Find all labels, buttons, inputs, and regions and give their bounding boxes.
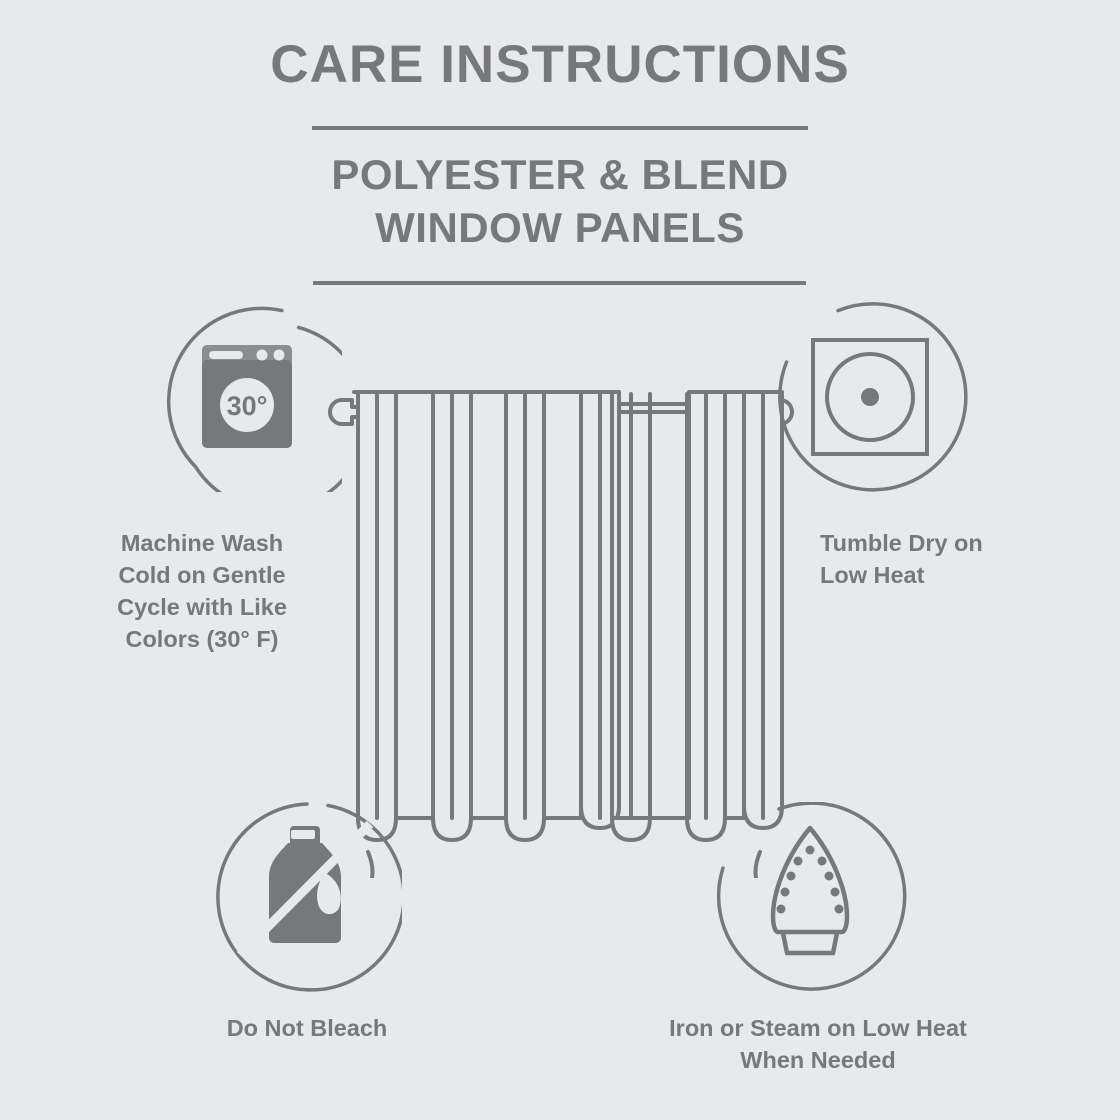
steam-holes [777,846,844,914]
detergent-slot [209,351,243,359]
low-heat-dot [861,388,879,406]
page-subtitle: POLYESTER & BLEND WINDOW PANELS [0,148,1120,255]
care-instructions-infographic: CARE INSTRUCTIONS POLYESTER & BLEND WIND… [0,0,1120,1120]
curtain-panel-right [612,392,782,840]
caption-line: Colors (30° F) [77,624,327,656]
iron-icon [717,802,907,992]
title-divider [312,126,808,130]
subtitle-divider [313,281,806,285]
care-symbol-machine-wash: 30° [152,302,342,492]
knob-1 [257,350,268,361]
bottle-cap-hole [291,830,315,839]
iron-base [783,933,837,953]
caption-line: Machine Wash [77,528,327,560]
caption-iron: Iron or Steam on Low Heat When Needed [608,1013,1028,1077]
washing-machine-icon: 30° [152,302,342,492]
caption-machine-wash: Machine Wash Cold on Gentle Cycle with L… [77,528,327,656]
no-bleach-icon [212,802,402,992]
caption-line: Iron or Steam on Low Heat [608,1013,1028,1045]
knob-2 [274,350,285,361]
iron-soleplate [773,828,847,932]
caption-line: Low Heat [820,560,1100,592]
caption-line: When Needed [608,1045,1028,1077]
caption-tumble-dry: Tumble Dry on Low Heat [820,528,1100,592]
care-symbol-do-not-bleach [212,802,402,992]
tumble-dry-icon [778,302,968,492]
caption-do-not-bleach: Do Not Bleach [157,1013,457,1045]
subtitle-line-1: POLYESTER & BLEND [0,148,1120,201]
wash-temperature-label: 30° [227,391,268,421]
caption-line: Tumble Dry on [820,528,1100,560]
page-title: CARE INSTRUCTIONS [0,36,1120,94]
caption-line: Cold on Gentle [77,560,327,592]
caption-line: Cycle with Like [77,592,327,624]
subtitle-line-2: WINDOW PANELS [0,201,1120,254]
care-symbol-tumble-dry [778,302,968,492]
caption-line: Do Not Bleach [157,1013,457,1045]
care-symbol-iron [717,802,907,992]
